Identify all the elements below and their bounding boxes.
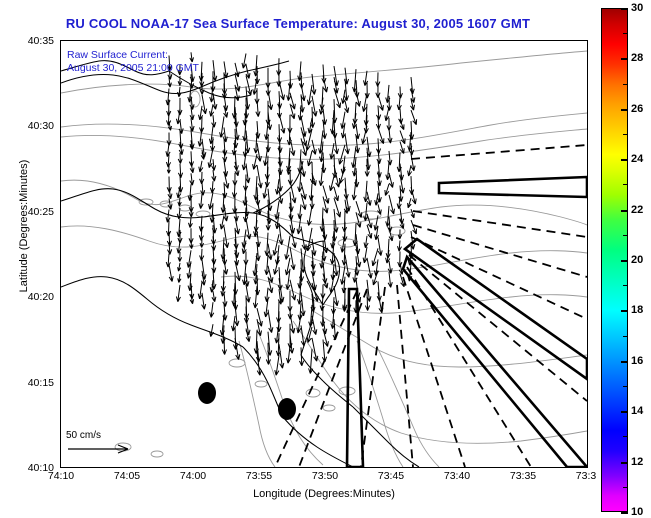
current-vector bbox=[312, 140, 316, 155]
current-vector bbox=[212, 170, 216, 181]
current-vector bbox=[198, 282, 202, 299]
current-vector bbox=[387, 118, 391, 130]
colorbar-tick-label: 18 bbox=[631, 304, 643, 316]
current-vector bbox=[199, 62, 203, 81]
x-tick-label: 73:3 bbox=[576, 470, 596, 482]
station-marker bbox=[278, 398, 296, 420]
colorbar-tick-label: 10 bbox=[631, 506, 643, 518]
current-vector bbox=[388, 129, 392, 143]
x-tick-label: 74:00 bbox=[180, 470, 206, 482]
current-vector bbox=[202, 95, 207, 114]
current-vector bbox=[301, 116, 306, 136]
scale-key-label: 50 cm/s bbox=[66, 430, 138, 441]
current-vector bbox=[246, 285, 250, 303]
current-vector bbox=[334, 253, 338, 276]
current-vector bbox=[279, 80, 285, 100]
current-vector bbox=[212, 291, 216, 302]
current-vector bbox=[257, 143, 261, 161]
current-vector bbox=[268, 90, 273, 110]
current-vector bbox=[364, 236, 368, 248]
current-vector bbox=[210, 181, 214, 193]
current-vector bbox=[309, 305, 313, 327]
current-vector bbox=[345, 134, 349, 154]
current-vector bbox=[307, 228, 312, 251]
y-tick-label: 40:15 bbox=[28, 377, 54, 389]
current-vector bbox=[263, 178, 268, 199]
current-vector bbox=[410, 77, 414, 94]
current-vector bbox=[397, 98, 401, 110]
current-vector bbox=[388, 272, 392, 288]
current-vector bbox=[233, 195, 237, 214]
current-vector bbox=[290, 225, 296, 248]
current-vector bbox=[410, 176, 414, 195]
colorbar-tick-label: 26 bbox=[631, 103, 643, 115]
y-tick-label: 40:30 bbox=[28, 120, 54, 132]
current-vector bbox=[208, 148, 213, 168]
current-vector bbox=[307, 85, 312, 105]
current-vector bbox=[199, 194, 203, 209]
current-vector bbox=[275, 355, 279, 375]
current-vector bbox=[411, 110, 417, 125]
current-vector bbox=[308, 151, 313, 166]
current-vector bbox=[378, 237, 382, 255]
current-vector bbox=[168, 243, 172, 255]
annotation-line-1: Raw Surface Current: bbox=[67, 49, 199, 62]
radar-beam-sectors bbox=[347, 177, 587, 467]
current-vector bbox=[220, 116, 224, 137]
current-vector bbox=[168, 199, 172, 210]
current-vector bbox=[167, 221, 171, 237]
current-vector bbox=[333, 319, 337, 340]
current-vector bbox=[389, 173, 393, 188]
current-vector bbox=[265, 288, 269, 302]
current-vector bbox=[176, 285, 180, 302]
current-vector bbox=[190, 118, 194, 131]
current-vector bbox=[202, 293, 206, 310]
current-vector bbox=[398, 87, 402, 99]
colorbar-tick-label: 12 bbox=[631, 456, 643, 468]
current-vector bbox=[167, 133, 171, 146]
x-axis-title: Longitude (Degrees:Minutes) bbox=[60, 488, 588, 500]
current-vector bbox=[400, 131, 405, 144]
current-vector bbox=[385, 107, 389, 121]
x-tick-label: 73:45 bbox=[378, 470, 404, 482]
current-vector bbox=[199, 161, 203, 172]
current-vector bbox=[212, 115, 216, 127]
current-vector bbox=[200, 172, 204, 184]
current-vector bbox=[257, 352, 261, 375]
current-vector bbox=[411, 220, 417, 234]
current-vector bbox=[224, 226, 229, 247]
current-vector bbox=[389, 195, 395, 214]
current-vector bbox=[367, 258, 372, 279]
scale-key: 50 cm/s bbox=[66, 430, 138, 458]
colorbar-tick-labels: 3028262422201816141210 bbox=[631, 0, 651, 518]
x-tick-label: 73:50 bbox=[312, 470, 338, 482]
current-vector bbox=[309, 349, 313, 374]
radar-station-markers bbox=[198, 382, 296, 420]
current-vector bbox=[334, 286, 338, 306]
colorbar-tick-label: 22 bbox=[631, 204, 643, 216]
current-vector bbox=[298, 204, 302, 218]
current-vector bbox=[200, 249, 204, 261]
current-vector bbox=[345, 101, 349, 113]
current-vector bbox=[323, 76, 328, 93]
colorbar-tick-label: 24 bbox=[631, 153, 643, 165]
map-canvas bbox=[61, 41, 587, 467]
current-vector bbox=[312, 316, 317, 335]
current-vector bbox=[274, 256, 279, 274]
current-vector bbox=[210, 302, 214, 317]
y-tick-label: 40:25 bbox=[28, 206, 54, 218]
current-vector bbox=[245, 274, 249, 287]
current-vector bbox=[312, 338, 318, 361]
current-vector bbox=[408, 165, 412, 176]
current-vector bbox=[190, 173, 194, 185]
current-vector bbox=[188, 184, 192, 200]
current-vector bbox=[400, 142, 404, 154]
current-vector bbox=[242, 54, 246, 69]
current-vector bbox=[233, 173, 237, 186]
current-vector bbox=[279, 113, 285, 133]
surface-current-vectors bbox=[166, 52, 417, 375]
current-vector bbox=[178, 274, 181, 283]
current-vector bbox=[254, 132, 258, 153]
colorbar-tick-label: 16 bbox=[631, 355, 643, 367]
current-vector bbox=[301, 193, 306, 209]
current-vector bbox=[233, 272, 237, 295]
current-vector bbox=[210, 104, 214, 116]
y-tick-label: 40:20 bbox=[28, 291, 54, 303]
colorbar-tick-label: 30 bbox=[631, 2, 643, 14]
current-vector bbox=[343, 222, 347, 242]
current-vector bbox=[246, 164, 250, 184]
current-vector bbox=[290, 137, 295, 156]
current-vector bbox=[399, 164, 403, 181]
current-vector bbox=[378, 127, 384, 143]
current-vector bbox=[408, 198, 412, 208]
station-marker bbox=[198, 382, 216, 404]
current-vector bbox=[268, 310, 273, 333]
current-vector bbox=[352, 179, 356, 200]
current-vector bbox=[386, 162, 390, 180]
current-vector bbox=[378, 94, 383, 110]
current-vector bbox=[378, 204, 382, 214]
x-axis-tick-labels: 74:10 74:05 74:00 73:55 73:50 73:45 73:4… bbox=[0, 470, 651, 486]
colorbar-ticks bbox=[601, 8, 628, 512]
current-vector bbox=[300, 347, 304, 365]
colorbar-tick-label: 20 bbox=[631, 254, 643, 266]
colorbar-tick-label: 14 bbox=[631, 405, 643, 417]
x-tick-label: 73:35 bbox=[510, 470, 536, 482]
current-vector bbox=[290, 247, 295, 270]
current-vector bbox=[166, 210, 170, 223]
current-vector bbox=[319, 164, 323, 186]
current-vector bbox=[212, 159, 216, 170]
plot-annotation: Raw Surface Current: August 30, 2005 21:… bbox=[67, 49, 199, 75]
current-vector bbox=[374, 259, 378, 275]
x-tick-label: 73:55 bbox=[246, 470, 272, 482]
coastline bbox=[61, 61, 419, 467]
current-vector bbox=[169, 265, 173, 282]
current-vector bbox=[199, 216, 203, 232]
current-vector bbox=[287, 346, 291, 363]
current-vector bbox=[345, 255, 350, 278]
current-vector bbox=[411, 154, 415, 171]
current-vector bbox=[301, 226, 306, 249]
current-vector bbox=[277, 311, 281, 332]
current-vector bbox=[319, 98, 323, 115]
y-axis-title: Latitude (Degrees:Minutes) bbox=[18, 106, 30, 346]
x-tick-label: 74:10 bbox=[48, 470, 74, 482]
x-tick-label: 74:05 bbox=[114, 470, 140, 482]
current-vector bbox=[178, 87, 182, 97]
current-vector bbox=[257, 165, 262, 188]
current-vector bbox=[224, 204, 228, 221]
current-vector bbox=[364, 181, 368, 202]
map-plot-area[interactable]: Raw Surface Current: August 30, 2005 21:… bbox=[60, 40, 588, 468]
current-vector bbox=[178, 263, 181, 271]
scale-key-arrow-icon bbox=[66, 441, 138, 455]
current-vector bbox=[363, 247, 367, 263]
current-vector bbox=[210, 324, 214, 336]
current-vector bbox=[312, 96, 317, 116]
current-vector bbox=[330, 176, 335, 191]
x-tick-label: 73:40 bbox=[444, 470, 470, 482]
colorbar-tick-label: 28 bbox=[631, 52, 643, 64]
current-vector bbox=[257, 198, 261, 215]
current-vector bbox=[309, 184, 313, 201]
current-vector bbox=[253, 286, 257, 308]
current-vector bbox=[166, 254, 170, 268]
current-vector bbox=[340, 167, 346, 184]
current-vector bbox=[398, 252, 402, 268]
current-vector bbox=[307, 206, 312, 226]
current-vector bbox=[166, 89, 170, 106]
current-vector bbox=[385, 184, 389, 196]
current-vector bbox=[189, 217, 193, 227]
current-vector bbox=[279, 344, 284, 368]
page-title: RU COOL NOAA-17 Sea Surface Temperature:… bbox=[0, 16, 596, 31]
annotation-line-2: August 30, 2005 21:00 GMT bbox=[67, 62, 199, 75]
current-vector bbox=[301, 138, 307, 155]
current-vector bbox=[265, 255, 269, 275]
y-tick-label: 40:35 bbox=[28, 35, 54, 47]
sst-map-figure: RU COOL NOAA-17 Sea Surface Temperature:… bbox=[0, 0, 651, 518]
current-vector bbox=[398, 241, 402, 252]
